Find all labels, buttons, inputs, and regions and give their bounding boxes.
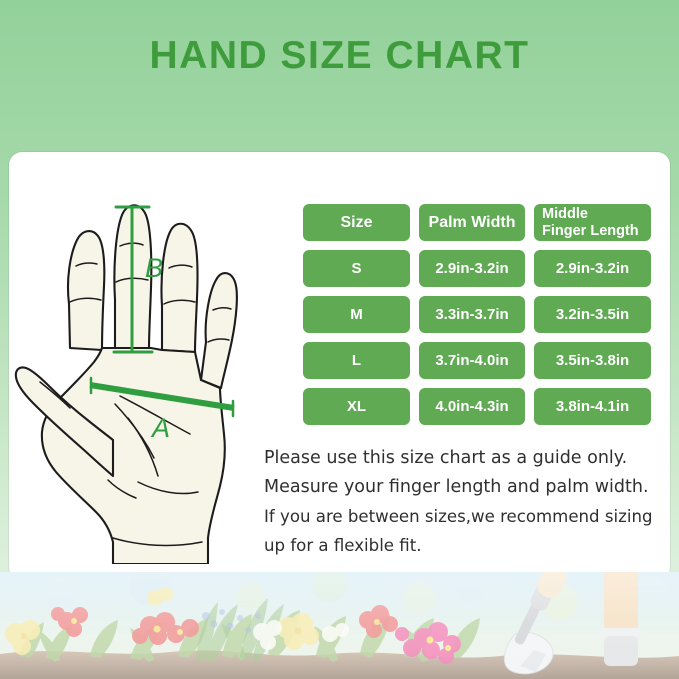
column-header-middle-finger-length: Middle Finger Length (534, 204, 651, 241)
table-row: S 2.9in-3.2in 2.9in-3.2in (303, 250, 653, 287)
table-header-row: Size Palm Width Middle Finger Length (303, 204, 653, 241)
finger-length-label: B (145, 253, 163, 283)
column-header-line1: Middle (538, 206, 651, 223)
cell-palm-width: 4.0in-4.3in (419, 388, 525, 425)
table-row: M 3.3in-3.7in 3.2in-3.5in (303, 296, 653, 333)
cell-finger-length: 3.5in-3.8in (534, 342, 651, 379)
column-header-size: Size (303, 204, 410, 241)
hand-illustration: B A (12, 182, 274, 564)
table-row: L 3.7in-4.0in 3.5in-3.8in (303, 342, 653, 379)
page-title: HAND SIZE CHART (0, 34, 679, 78)
table-row: XL 4.0in-4.3in 3.8in-4.1in (303, 388, 653, 425)
cell-finger-length: 3.8in-4.1in (534, 388, 651, 425)
column-header-palm-width: Palm Width (419, 204, 525, 241)
garden-fork-handle-shape (601, 572, 641, 666)
size-table: Size Palm Width Middle Finger Length S 2… (303, 204, 653, 434)
size-guide-note: Please use this size chart as a guide on… (264, 444, 660, 560)
cell-palm-width: 3.7in-4.0in (419, 342, 525, 379)
cell-palm-width: 2.9in-3.2in (419, 250, 525, 287)
garden-footer-image (0, 572, 679, 679)
cell-size: XL (303, 388, 410, 425)
cell-finger-length: 2.9in-3.2in (534, 250, 651, 287)
hand-size-chart-page: HAND SIZE CHART (0, 0, 679, 679)
note-line-4: up for a flexible fit. (264, 531, 660, 560)
cell-finger-length: 3.2in-3.5in (534, 296, 651, 333)
note-line-2: Measure your finger length and palm widt… (264, 473, 660, 502)
cell-size: S (303, 250, 410, 287)
note-line-1: Please use this size chart as a guide on… (264, 444, 660, 473)
column-header-line2: Finger Length (538, 223, 651, 240)
cell-size: M (303, 296, 410, 333)
cell-size: L (303, 342, 410, 379)
cell-palm-width: 3.3in-3.7in (419, 296, 525, 333)
palm-width-label: A (150, 413, 170, 443)
note-line-3: If you are between sizes,we recommend si… (264, 502, 660, 531)
